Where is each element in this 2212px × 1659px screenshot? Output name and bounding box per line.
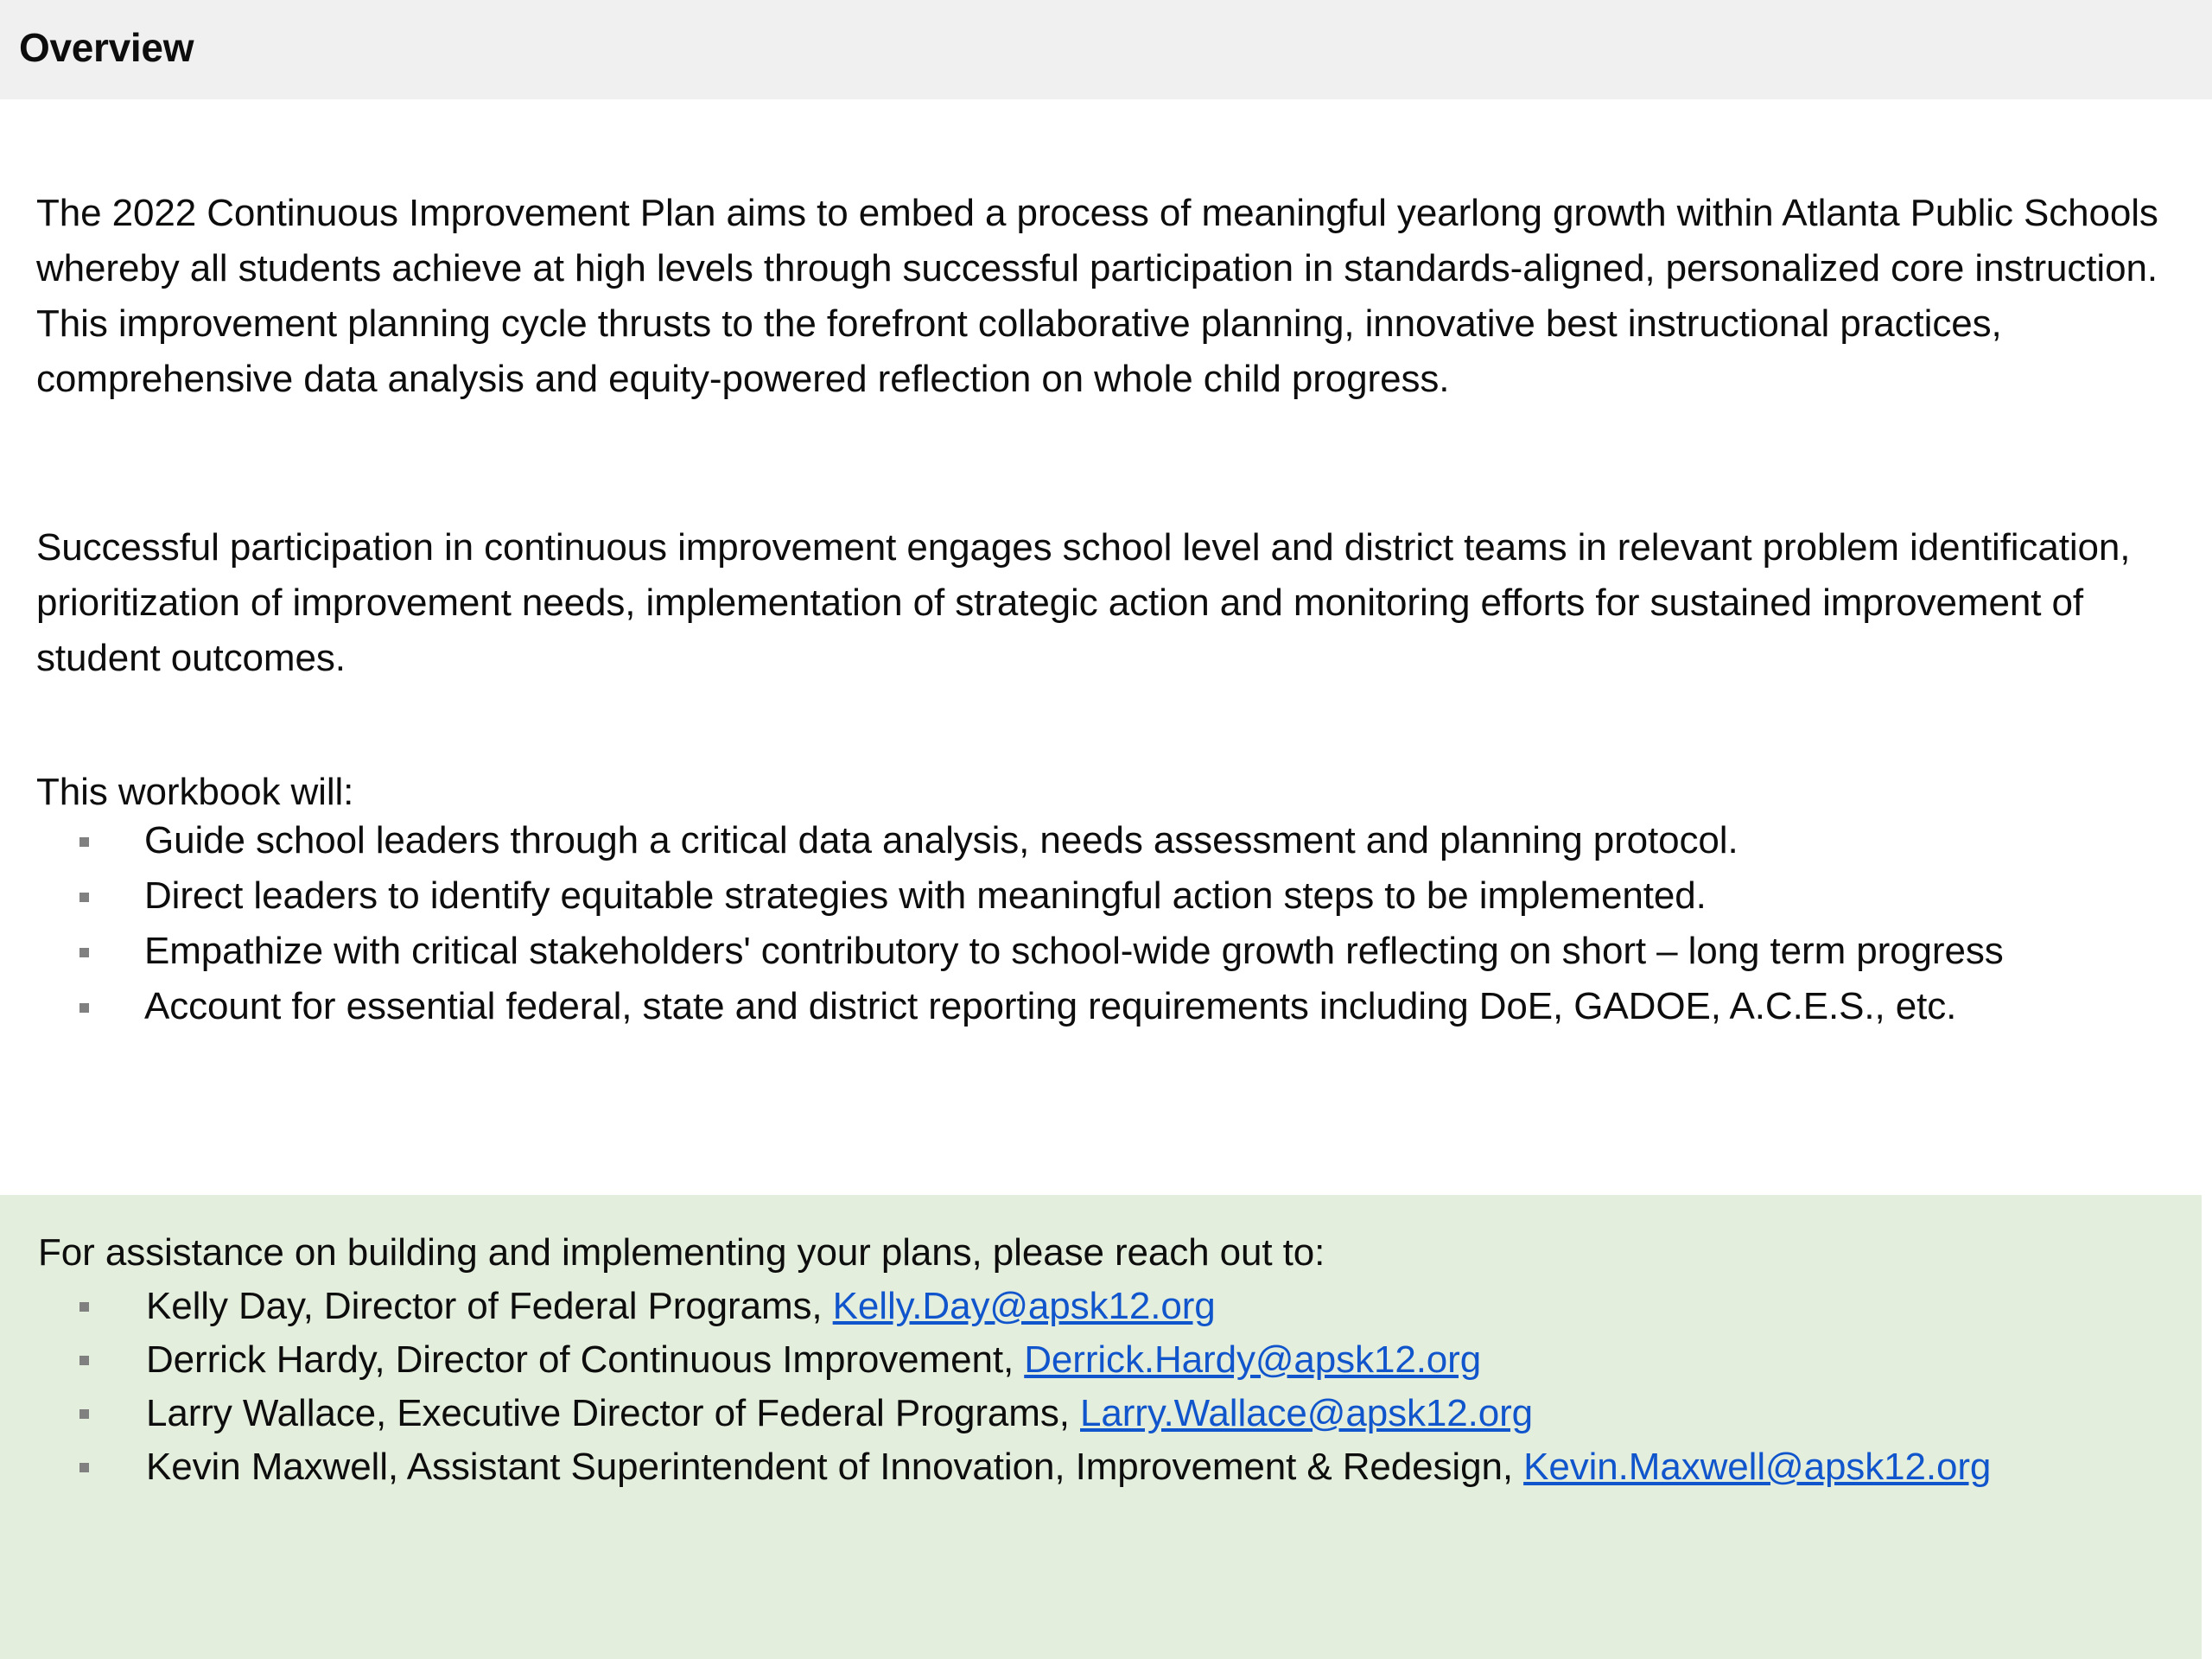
list-item: Kelly Day, Director of Federal Programs,… bbox=[38, 1280, 2164, 1333]
contact-email-link[interactable]: Kelly.Day@apsk12.org bbox=[833, 1285, 1216, 1327]
contact-name-title: Kelly Day, Director of Federal Programs, bbox=[146, 1285, 833, 1327]
list-item: Larry Wallace, Executive Director of Fed… bbox=[38, 1387, 2164, 1440]
square-bullet-icon bbox=[79, 1003, 89, 1013]
workbook-bullet-list: Guide school leaders through a critical … bbox=[36, 813, 2179, 1034]
main-content-region: The 2022 Continuous Improvement Plan aim… bbox=[0, 99, 2212, 1195]
list-item: Kevin Maxwell, Assistant Superintendent … bbox=[38, 1440, 2164, 1494]
square-bullet-icon bbox=[79, 948, 89, 957]
contact-intro-label: For assistance on building and implement… bbox=[38, 1226, 1325, 1280]
list-item: Direct leaders to identify equitable str… bbox=[36, 868, 2179, 924]
workbook-intro-label: This workbook will: bbox=[36, 765, 353, 820]
contact-email-link[interactable]: Derrick.Hardy@apsk12.org bbox=[1024, 1338, 1481, 1381]
contact-assistance-panel: For assistance on building and implement… bbox=[0, 1195, 2202, 1659]
list-item: Empathize with critical stakeholders' co… bbox=[36, 924, 2179, 979]
square-bullet-icon bbox=[79, 893, 89, 902]
overview-paragraph-2: Successful participation in continuous i… bbox=[36, 520, 2188, 686]
contact-name-title: Larry Wallace, Executive Director of Fed… bbox=[146, 1392, 1080, 1434]
contact-name-title: Derrick Hardy, Director of Continuous Im… bbox=[146, 1338, 1024, 1381]
contact-email-link[interactable]: Kevin.Maxwell@apsk12.org bbox=[1523, 1446, 1991, 1488]
contact-email-link[interactable]: Larry.Wallace@apsk12.org bbox=[1080, 1392, 1533, 1434]
list-item: Account for essential federal, state and… bbox=[36, 979, 2179, 1034]
list-item: Guide school leaders through a critical … bbox=[36, 813, 2179, 868]
section-header-band: Overview bbox=[0, 0, 2212, 99]
square-bullet-icon bbox=[79, 837, 89, 847]
list-item-label: Direct leaders to identify equitable str… bbox=[144, 874, 1707, 917]
list-item-label: Guide school leaders through a critical … bbox=[144, 819, 1738, 861]
square-bullet-icon bbox=[79, 1356, 89, 1365]
list-item: Derrick Hardy, Director of Continuous Im… bbox=[38, 1333, 2164, 1387]
list-item-label: Empathize with critical stakeholders' co… bbox=[144, 930, 2004, 972]
overview-paragraph-1: The 2022 Continuous Improvement Plan aim… bbox=[36, 186, 2188, 407]
square-bullet-icon bbox=[79, 1409, 89, 1419]
page-title: Overview bbox=[19, 22, 194, 73]
square-bullet-icon bbox=[79, 1302, 89, 1312]
list-item-label: Account for essential federal, state and… bbox=[144, 985, 1956, 1027]
square-bullet-icon bbox=[79, 1463, 89, 1472]
contact-bullet-list: Kelly Day, Director of Federal Programs,… bbox=[38, 1280, 2164, 1494]
contact-name-title: Kevin Maxwell, Assistant Superintendent … bbox=[146, 1446, 1523, 1488]
